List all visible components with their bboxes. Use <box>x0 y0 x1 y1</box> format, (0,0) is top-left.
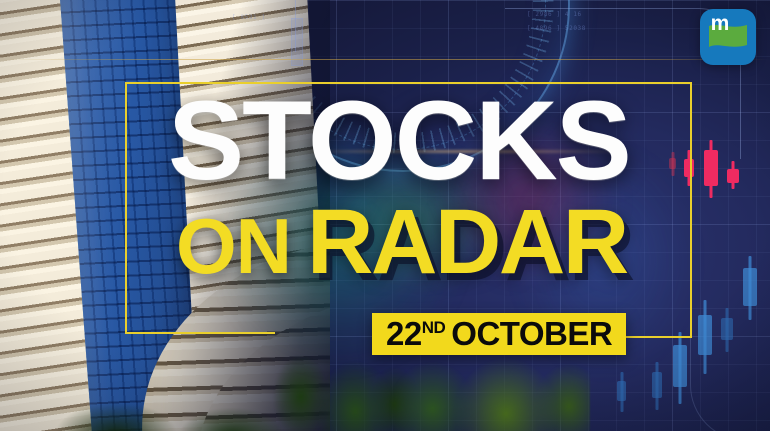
thumbnail-canvas: [ 8521 ] [ 2986 ] 4 16 [ 4896 ] 52038 ST… <box>0 0 770 431</box>
date-ordinal-suffix: ND <box>422 318 446 338</box>
title-word-on: ON <box>176 202 291 290</box>
title-word-radar: RADAR <box>307 191 627 293</box>
moneycontrol-logo[interactable]: m <box>700 9 756 65</box>
date-banner: 22NDOCTOBER <box>372 313 626 355</box>
logo-letter: m <box>700 9 740 37</box>
date-day: 22 <box>386 315 422 353</box>
date-month: OCTOBER <box>451 315 612 353</box>
date-text: 22NDOCTOBER <box>386 315 612 353</box>
title-line-on-radar: ONRADAR <box>176 196 627 315</box>
title-block: STOCKS ONRADAR <box>0 0 770 431</box>
title-line-stocks: STOCKS <box>168 85 630 197</box>
